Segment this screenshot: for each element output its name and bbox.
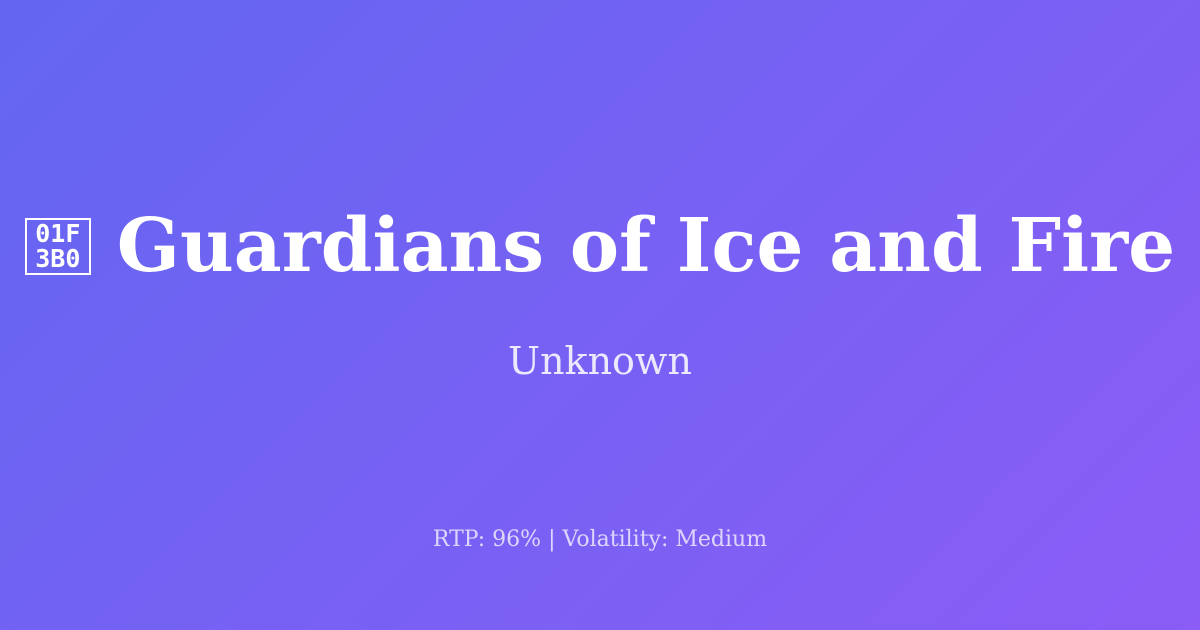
- title-row: 01F 3B0 Guardians of Ice and Fire: [0, 209, 1200, 283]
- card-footer: RTP: 96% | Volatility: Medium: [0, 527, 1200, 553]
- tofu-codepoint-bottom: 3B0: [35, 246, 80, 271]
- page-title: Guardians of Ice and Fire: [117, 209, 1175, 283]
- slot-machine-icon: 01F 3B0: [25, 218, 91, 275]
- card-subtitle: Unknown: [508, 339, 692, 385]
- game-meta-text: RTP: 96% | Volatility: Medium: [433, 527, 767, 552]
- tofu-codepoint-top: 01F: [35, 221, 80, 246]
- og-share-card: 01F 3B0 Guardians of Ice and Fire Unknow…: [0, 0, 1200, 630]
